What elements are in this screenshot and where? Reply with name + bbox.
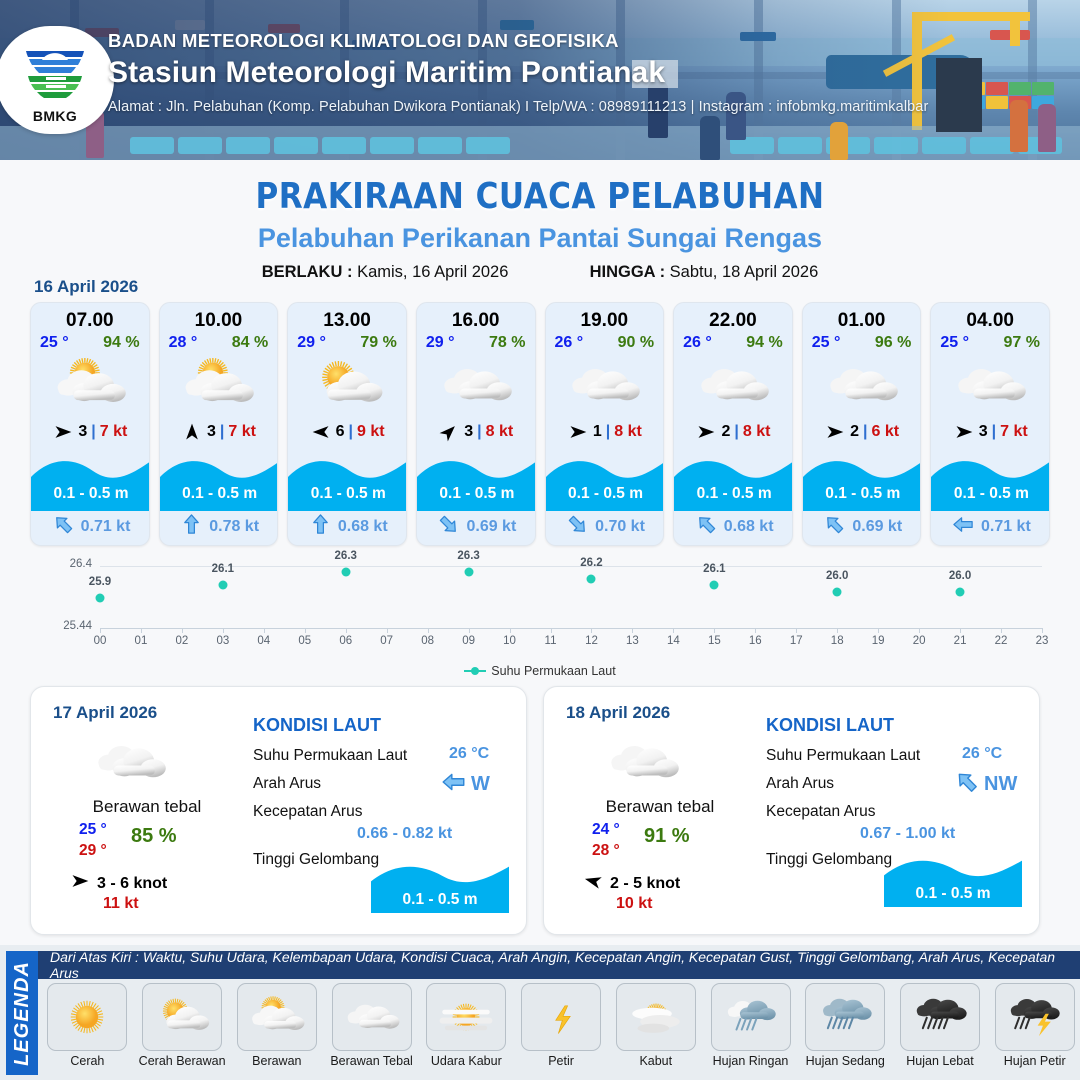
card-temperature: 26 ° — [555, 334, 584, 352]
panel-gust: 11 kt — [103, 895, 139, 913]
person — [830, 122, 848, 160]
panel-temp-min: 25 ° — [79, 821, 107, 839]
chart-xtick: 23 — [1036, 635, 1049, 647]
seat — [418, 137, 462, 154]
card-humidity: 78 % — [489, 334, 525, 352]
sun-cloud-icon — [149, 991, 215, 1043]
chart-xtick: 11 — [545, 635, 557, 647]
sun-behind-cloud-icon — [47, 358, 133, 412]
legend-caption: Hujan Petir — [1004, 1055, 1066, 1069]
chart-xtick: 09 — [462, 635, 475, 647]
current-direction-icon — [441, 769, 467, 795]
card-current-arrow-slot — [695, 513, 718, 541]
card-weather-icon-slot — [803, 354, 921, 416]
legend-icon-box — [426, 983, 506, 1051]
panel-current-dir: NW — [984, 773, 1017, 796]
daily-summary-panel[interactable]: 18 April 2026Berawan tebal24 °28 °91 %2 … — [543, 686, 1040, 935]
card-time: 22.00 — [674, 303, 792, 332]
card-wind-speed: 3 — [207, 423, 216, 441]
card-current-speed: 0.71 kt — [81, 518, 131, 536]
card-weather-icon-slot — [160, 354, 278, 416]
card-wind-speed: 2 — [721, 423, 730, 441]
chart-point — [710, 581, 719, 590]
fog-icon — [623, 991, 689, 1043]
heavy-rain-icon — [907, 991, 973, 1043]
card-gust: 6 kt — [871, 423, 899, 441]
forecast-card[interactable]: 10.0028 °84 %3|7 kt0.1 - 0.5 m0.78 kt — [159, 302, 279, 546]
panel-wave-height: 0.1 - 0.5 m — [884, 885, 1022, 903]
legend-side-label: LEGENDA — [6, 951, 38, 1075]
panel-condition: Berawan tebal — [560, 797, 760, 817]
card-weather-icon-slot — [546, 354, 664, 416]
card-time: 16.00 — [417, 303, 535, 332]
legend-icon-box — [142, 983, 222, 1051]
sun-icon — [54, 991, 120, 1043]
card-humidity: 90 % — [618, 334, 654, 352]
legend-item: Hujan Lebat — [895, 983, 986, 1069]
valid-from-label: BERLAKU : — [262, 263, 353, 281]
card-separator: | — [863, 423, 867, 441]
person — [1010, 100, 1028, 152]
seat — [130, 137, 174, 154]
legend-item: Berawan — [231, 983, 322, 1069]
card-current-arrow-slot — [52, 513, 75, 541]
card-humidity: 94 % — [103, 334, 139, 352]
validity-line: BERLAKU : Kamis, 16 April 2026 HINGGA : … — [0, 263, 1080, 282]
current-direction-icon — [566, 513, 589, 536]
legend-note: Dari Atas Kiri : Waktu, Suhu Udara, Kele… — [50, 949, 1080, 981]
person — [700, 116, 720, 160]
chart-xtick: 14 — [667, 635, 680, 647]
chart-xtick: 17 — [790, 635, 803, 647]
chart-point-label: 26.3 — [335, 550, 357, 562]
forecast-card[interactable]: 13.0029 °79 %6|9 kt0.1 - 0.5 m0.68 kt — [287, 302, 407, 546]
bmkg-logo-mark — [16, 37, 94, 109]
panel-current-arrow-slot — [441, 769, 467, 800]
chart-xtick: 13 — [626, 635, 639, 647]
legend-caption: Udara Kabur — [431, 1055, 502, 1069]
panel-row-key: Tinggi Gelombang — [253, 851, 379, 869]
card-current-speed: 0.69 kt — [466, 518, 516, 536]
legend-item: Berawan Tebal — [326, 983, 417, 1069]
wind-direction-icon — [567, 422, 589, 442]
bmkg-logo-text: BMKG — [16, 108, 94, 124]
legend-icon-box — [995, 983, 1075, 1051]
chart-xtick: 19 — [872, 635, 885, 647]
panel-date: 18 April 2026 — [566, 703, 670, 723]
card-separator: | — [734, 423, 738, 441]
card-current-arrow-slot — [180, 513, 203, 541]
panel-temp-max: 29 ° — [79, 842, 107, 860]
legend-icon-box — [616, 983, 696, 1051]
card-current-arrow-slot — [823, 513, 846, 541]
panel-humidity: 91 % — [644, 825, 690, 848]
panel-wind-arrow-slot — [582, 871, 604, 896]
chart-point — [587, 574, 596, 583]
cloud-icon — [947, 358, 1033, 412]
seat — [874, 137, 918, 154]
chart-xtick: 10 — [503, 635, 516, 647]
chart-xtick: 18 — [831, 635, 844, 647]
card-humidity: 96 % — [875, 334, 911, 352]
valid-until-label: HINGGA : — [590, 263, 665, 281]
seat — [370, 137, 414, 154]
card-humidity: 84 % — [232, 334, 268, 352]
chart-xtick: 22 — [995, 635, 1008, 647]
legend-item: Cerah Berawan — [137, 983, 228, 1069]
panel-humidity: 85 % — [131, 825, 177, 848]
card-current-arrow-slot — [566, 513, 589, 541]
seat — [922, 137, 966, 154]
panel-row-key: Suhu Permukaan Laut — [766, 747, 920, 765]
card-wind-arrow-slot — [567, 422, 589, 442]
card-current-speed: 0.78 kt — [209, 518, 259, 536]
cloud-icon — [819, 358, 905, 412]
card-wind-arrow-slot — [695, 422, 717, 442]
card-time: 19.00 — [546, 303, 664, 332]
title-block: PRAKIRAAN CUACA PELABUHAN Pelabuhan Peri… — [0, 176, 1080, 282]
panel-condition: Berawan tebal — [47, 797, 247, 817]
card-time: 10.00 — [160, 303, 278, 332]
sun-cloud-icon — [304, 358, 390, 412]
legend-item: Petir — [516, 983, 607, 1069]
legend-caption: Berawan — [252, 1055, 301, 1069]
card-separator: | — [91, 423, 95, 441]
card-weather-icon-slot — [31, 354, 149, 416]
panel-sst-value: 26 °C — [449, 745, 489, 763]
chart-point-label: 26.1 — [212, 563, 234, 575]
daily-summary-panel[interactable]: 17 April 2026Berawan tebal25 °29 °85 %3 … — [30, 686, 527, 935]
card-current-speed: 0.70 kt — [595, 518, 645, 536]
seat — [322, 137, 366, 154]
panel-current-dir-wrap: W — [441, 769, 490, 800]
card-gust: 8 kt — [486, 423, 514, 441]
cloud-icon — [339, 991, 405, 1043]
panel-wave-height: 0.1 - 0.5 m — [371, 891, 509, 909]
legend-caption: Hujan Ringan — [713, 1055, 789, 1069]
panel-current-dir: W — [471, 773, 490, 796]
card-current-speed: 0.68 kt — [724, 518, 774, 536]
card-separator: | — [606, 423, 610, 441]
sun-behind-cloud-icon — [244, 991, 310, 1043]
card-wave-height: 0.1 - 0.5 m — [31, 485, 150, 503]
header-text-block: BADAN METEOROLOGI KLIMATOLOGI DAN GEOFIS… — [108, 30, 928, 115]
card-wind-speed: 6 — [336, 423, 345, 441]
chart-legend-label: Suhu Permukaan Laut — [491, 664, 615, 678]
legend-caption: Hujan Sedang — [806, 1055, 885, 1069]
panel-gust: 10 kt — [616, 895, 652, 913]
card-humidity: 79 % — [360, 334, 396, 352]
card-gust: 9 kt — [357, 423, 385, 441]
panel-wind-range: 3 - 6 knot — [97, 875, 167, 893]
card-separator: | — [477, 423, 481, 441]
card-weather-icon-slot — [417, 354, 535, 416]
light-rain-icon — [718, 991, 784, 1043]
panel-sst-value: 26 °C — [962, 745, 1002, 763]
wind-direction-icon — [953, 422, 975, 442]
chart-xtick: 16 — [749, 635, 762, 647]
card-wind-arrow-slot — [181, 422, 203, 442]
chart-ytick: 25.44 — [34, 620, 92, 632]
chart-xtick: 12 — [585, 635, 598, 647]
card-wind-arrow-slot — [953, 422, 975, 442]
card-wind-speed: 3 — [979, 423, 988, 441]
current-direction-icon — [823, 513, 846, 536]
forecast-card[interactable]: 04.0025 °97 %3|7 kt0.1 - 0.5 m0.71 kt — [930, 302, 1050, 546]
chart-point — [833, 587, 842, 596]
chart-point-label: 26.0 — [949, 570, 971, 582]
contact-info: Alamat : Jln. Pelabuhan (Komp. Pelabuhan… — [108, 99, 928, 115]
sun-behind-cloud-icon — [175, 358, 261, 412]
card-wind-speed: 1 — [593, 423, 602, 441]
chart-xtick: 08 — [421, 635, 434, 647]
panel-wind: 3 - 6 knot — [69, 871, 167, 896]
panel-weather-icon-slot — [87, 735, 173, 789]
wind-direction-icon — [695, 422, 717, 442]
legend-icon-box — [521, 983, 601, 1051]
card-temperature: 26 ° — [683, 334, 712, 352]
chart-point — [218, 581, 227, 590]
panel-row-key: Kecepatan Arus — [766, 803, 875, 821]
agency-name: BADAN METEOROLOGI KLIMATOLOGI DAN GEOFIS… — [108, 30, 928, 52]
legend-note-bar: Dari Atas Kiri : Waktu, Suhu Udara, Kele… — [38, 951, 1080, 979]
wind-direction-icon — [181, 422, 203, 442]
panel-wind-arrow-slot — [69, 871, 91, 896]
legend-item: Kabut — [610, 983, 701, 1069]
card-temperature: 25 ° — [812, 334, 841, 352]
card-wind-speed: 3 — [464, 423, 473, 441]
card-wind-arrow-slot — [310, 422, 332, 442]
card-wave-height: 0.1 - 0.5 m — [288, 485, 407, 503]
panel-wind: 2 - 5 knot — [582, 871, 680, 896]
legend-icon-box — [711, 983, 791, 1051]
wind-direction-icon — [824, 422, 846, 442]
panel-row-key: Arah Arus — [253, 775, 321, 793]
panel-weather-icon-slot — [600, 735, 686, 789]
card-wind-speed: 3 — [78, 423, 87, 441]
panel-current-dir-wrap: NW — [954, 769, 1017, 800]
card-wave-height: 0.1 - 0.5 m — [674, 485, 793, 503]
chart-xtick: 03 — [216, 635, 229, 647]
legend-caption: Kabut — [639, 1055, 672, 1069]
chart-point-label: 26.0 — [826, 570, 848, 582]
card-current-speed: 0.68 kt — [338, 518, 388, 536]
legend-icon-box — [900, 983, 980, 1051]
legend-caption: Cerah — [70, 1055, 104, 1069]
chart-point — [464, 568, 473, 577]
daily-summary-row: 17 April 2026Berawan tebal25 °29 °85 %3 … — [30, 686, 1050, 935]
cloud-icon — [87, 735, 173, 789]
wind-direction-icon — [310, 422, 332, 442]
chart-ytick: 26.4 — [34, 558, 92, 570]
card-wind-arrow-slot — [824, 422, 846, 442]
card-wind-arrow-slot — [52, 422, 74, 442]
legend-icon-box — [332, 983, 412, 1051]
card-gust: 7 kt — [228, 423, 256, 441]
cloud-icon — [600, 735, 686, 789]
current-direction-icon — [954, 769, 980, 795]
forecast-card[interactable]: 07.0025 °94 %3|7 kt0.1 - 0.5 m0.71 kt — [30, 302, 150, 546]
wind-direction-icon — [438, 422, 460, 442]
current-direction-icon — [952, 513, 975, 536]
panel-temp-max: 28 ° — [592, 842, 620, 860]
card-temperature: 28 ° — [169, 334, 198, 352]
chart-xtick: 00 — [94, 635, 107, 647]
hourly-forecast-row: 07.0025 °94 %3|7 kt0.1 - 0.5 m0.71 kt10.… — [30, 302, 1050, 546]
bmkg-logo: BMKG — [0, 26, 114, 134]
legend-item: Hujan Petir — [989, 983, 1080, 1069]
card-temperature: 25 ° — [940, 334, 969, 352]
chart-xtick: 07 — [380, 635, 393, 647]
card-wave-height: 0.1 - 0.5 m — [931, 485, 1050, 503]
card-current-speed: 0.69 kt — [852, 518, 902, 536]
chart-point-label: 26.1 — [703, 563, 725, 575]
seat — [178, 137, 222, 154]
current-direction-icon — [695, 513, 718, 536]
card-current-arrow-slot — [952, 513, 975, 541]
legend-item: Hujan Ringan — [705, 983, 796, 1069]
valid-until-value: Sabtu, 18 April 2026 — [670, 263, 819, 281]
card-current-arrow-slot — [309, 513, 332, 541]
card-wave-height: 0.1 - 0.5 m — [160, 485, 279, 503]
panel-wind-range: 2 - 5 knot — [610, 875, 680, 893]
panel-row-key: Suhu Permukaan Laut — [253, 747, 407, 765]
panel-row-key: Kecepatan Arus — [253, 803, 362, 821]
panel-sea-title: KONDISI LAUT — [766, 715, 894, 736]
card-weather-icon-slot — [931, 354, 1049, 416]
moderate-rain-icon — [812, 991, 878, 1043]
chart-xtick: 01 — [135, 635, 148, 647]
legend-caption: Berawan Tebal — [330, 1055, 412, 1069]
haze-icon — [433, 991, 499, 1043]
card-temperature: 29 ° — [426, 334, 455, 352]
card-humidity: 97 % — [1004, 334, 1040, 352]
page-title: PRAKIRAAN CUACA PELABUHAN — [22, 176, 1059, 217]
legend-icon-box — [237, 983, 317, 1051]
wind-direction-icon — [52, 422, 74, 442]
cloud-icon — [690, 358, 776, 412]
legend-icon-box — [805, 983, 885, 1051]
chart-point-label: 25.9 — [89, 576, 111, 588]
current-direction-icon — [309, 513, 332, 536]
current-direction-icon — [437, 513, 460, 536]
card-temperature: 29 ° — [297, 334, 326, 352]
chart-xtick: 04 — [257, 635, 270, 647]
sst-chart: 26.425.4425.926.126.326.326.226.126.026.… — [30, 556, 1050, 676]
wind-direction-icon — [582, 871, 604, 891]
card-separator: | — [220, 423, 224, 441]
chart-point-label: 26.2 — [580, 557, 602, 569]
legend-caption: Petir — [548, 1055, 574, 1069]
card-time: 04.00 — [931, 303, 1049, 332]
panel-sea-title: KONDISI LAUT — [253, 715, 381, 736]
cloud-icon — [561, 358, 647, 412]
panel-current-speed: 0.67 - 1.00 kt — [860, 825, 955, 843]
card-current-arrow-slot — [437, 513, 460, 541]
panel-temp-min: 24 ° — [592, 821, 620, 839]
current-direction-icon — [180, 513, 203, 536]
seat — [466, 137, 510, 154]
card-time: 07.00 — [31, 303, 149, 332]
legend-section: LEGENDA Dari Atas Kiri : Waktu, Suhu Uda… — [0, 945, 1080, 1080]
lightning-icon — [528, 991, 594, 1043]
chart-point — [341, 568, 350, 577]
forecast-card[interactable]: 01.0025 °96 %2|6 kt0.1 - 0.5 m0.69 kt — [802, 302, 922, 546]
current-direction-icon — [52, 513, 75, 536]
panel-current-arrow-slot — [954, 769, 980, 800]
seat — [778, 137, 822, 154]
legend-caption: Hujan Lebat — [906, 1055, 973, 1069]
card-separator: | — [348, 423, 352, 441]
cloud-icon — [433, 358, 519, 412]
info-screen — [936, 58, 982, 132]
station-name: Stasiun Meteorologi Maritim Pontianak — [108, 56, 928, 90]
card-gust: 8 kt — [614, 423, 642, 441]
forecast-date-label: 16 April 2026 — [34, 277, 138, 297]
valid-from-value: Kamis, 16 April 2026 — [357, 263, 508, 281]
card-wave-height: 0.1 - 0.5 m — [803, 485, 922, 503]
chart-xtick: 06 — [339, 635, 352, 647]
chart-legend: Suhu Permukaan Laut — [30, 664, 1050, 678]
panel-current-speed: 0.66 - 0.82 kt — [357, 825, 452, 843]
legend-item: Cerah — [42, 983, 133, 1069]
forecast-card[interactable]: 16.0029 °78 %3|8 kt0.1 - 0.5 m0.69 kt — [416, 302, 536, 546]
chart-xtick: 05 — [298, 635, 311, 647]
seat — [274, 137, 318, 154]
card-weather-icon-slot — [674, 354, 792, 416]
chart-xtick: 15 — [708, 635, 721, 647]
legend-icon-box — [47, 983, 127, 1051]
legend-item: Hujan Sedang — [800, 983, 891, 1069]
person — [1038, 104, 1056, 152]
card-time: 01.00 — [803, 303, 921, 332]
chart-point-label: 26.3 — [457, 550, 479, 562]
card-temperature: 25 ° — [40, 334, 69, 352]
card-gust: 7 kt — [1000, 423, 1028, 441]
chart-point — [956, 587, 965, 596]
page-subtitle: Pelabuhan Perikanan Pantai Sungai Rengas — [0, 223, 1080, 254]
panel-row-key: Arah Arus — [766, 775, 834, 793]
card-humidity: 94 % — [746, 334, 782, 352]
legend-icon-row: CerahCerah BerawanBerawanBerawan TebalUd… — [38, 983, 1080, 1069]
thunderstorm-icon — [1002, 991, 1068, 1043]
seat — [226, 137, 270, 154]
chart-point — [96, 594, 105, 603]
panel-row-key: Tinggi Gelombang — [766, 851, 892, 869]
card-separator: | — [992, 423, 996, 441]
seat — [970, 137, 1014, 154]
card-wave-height: 0.1 - 0.5 m — [417, 485, 536, 503]
card-current-speed: 0.71 kt — [981, 518, 1031, 536]
card-time: 13.00 — [288, 303, 406, 332]
card-wind-speed: 2 — [850, 423, 859, 441]
forecast-card[interactable]: 22.0026 °94 %2|8 kt0.1 - 0.5 m0.68 kt — [673, 302, 793, 546]
forecast-card[interactable]: 19.0026 °90 %1|8 kt0.1 - 0.5 m0.70 kt — [545, 302, 665, 546]
chart-xtick: 02 — [176, 635, 189, 647]
card-wind-arrow-slot — [438, 422, 460, 442]
chart-xtick: 21 — [954, 635, 967, 647]
legend-item: Udara Kabur — [421, 983, 512, 1069]
legend-marker-icon — [464, 670, 486, 672]
card-gust: 7 kt — [100, 423, 128, 441]
card-wave-height: 0.1 - 0.5 m — [546, 485, 665, 503]
page-header: BMKG BADAN METEOROLOGI KLIMATOLOGI DAN G… — [0, 0, 1080, 160]
chart-xtick: 20 — [913, 635, 926, 647]
card-gust: 8 kt — [743, 423, 771, 441]
card-weather-icon-slot — [288, 354, 406, 416]
wind-direction-icon — [69, 871, 91, 891]
legend-caption: Cerah Berawan — [139, 1055, 226, 1069]
